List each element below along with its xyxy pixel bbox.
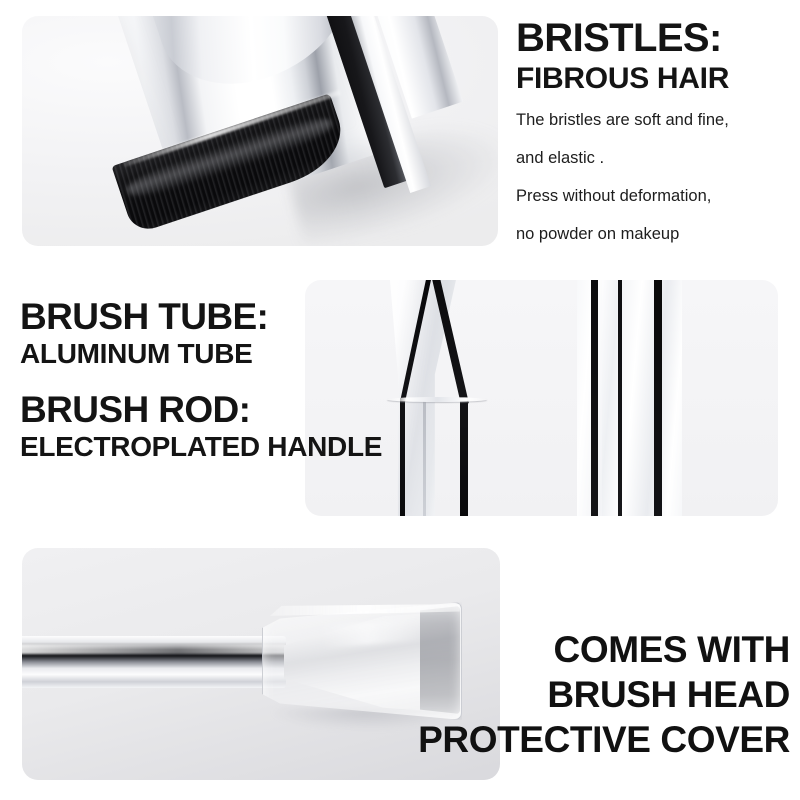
tube-reflection-line-a-lower — [400, 398, 405, 516]
tube-rod-caption-block: BRUSH TUBE: ALUMINUM TUBE BRUSH ROD: ELE… — [20, 298, 382, 462]
tube-reflection-line-b-lower — [460, 400, 468, 516]
tube-rod-joint-seam — [387, 397, 487, 402]
bristles-body-line-2: and elastic . — [516, 146, 729, 171]
infographic-page: BRISTLES: FIBROUS HAIR The bristles are … — [0, 0, 800, 800]
bristles-photo-panel — [22, 16, 498, 246]
cover-heading-line-2: BRUSH HEAD — [418, 673, 790, 718]
protective-cover-caption-block: COMES WITH BRUSH HEAD PROTECTIVE COVER — [418, 628, 790, 762]
tube-subheading: ALUMINUM TUBE — [20, 338, 382, 369]
bristles-heading: BRISTLES: — [516, 18, 729, 59]
bristles-body-line-3: Press without deformation, — [516, 184, 729, 209]
rod-reflection-line-c — [591, 280, 598, 516]
tube-heading: BRUSH TUBE: — [20, 298, 382, 336]
rod-heading: BRUSH ROD: — [20, 391, 382, 429]
bristles-subheading: FIBROUS HAIR — [516, 62, 729, 96]
rod-reflection-line-e — [654, 280, 662, 516]
bristles-caption-block: BRISTLES: FIBROUS HAIR The bristles are … — [516, 18, 729, 247]
tube-reflection-line-a-faint — [423, 398, 426, 516]
rod-reflection-line-d — [618, 280, 622, 516]
handle-rod-gloss — [22, 644, 286, 654]
caption-spacer — [20, 369, 382, 391]
cover-heading-line-1: COMES WITH — [418, 628, 790, 673]
rod-subheading: ELECTROPLATED HANDLE — [20, 431, 382, 462]
bristles-body-line-1: The bristles are soft and fine, — [516, 108, 729, 133]
rod-soft-highlight — [602, 280, 617, 516]
bristles-body-line-4: no powder on makeup — [516, 222, 729, 247]
cover-heading-line-3: PROTECTIVE COVER — [418, 718, 790, 763]
